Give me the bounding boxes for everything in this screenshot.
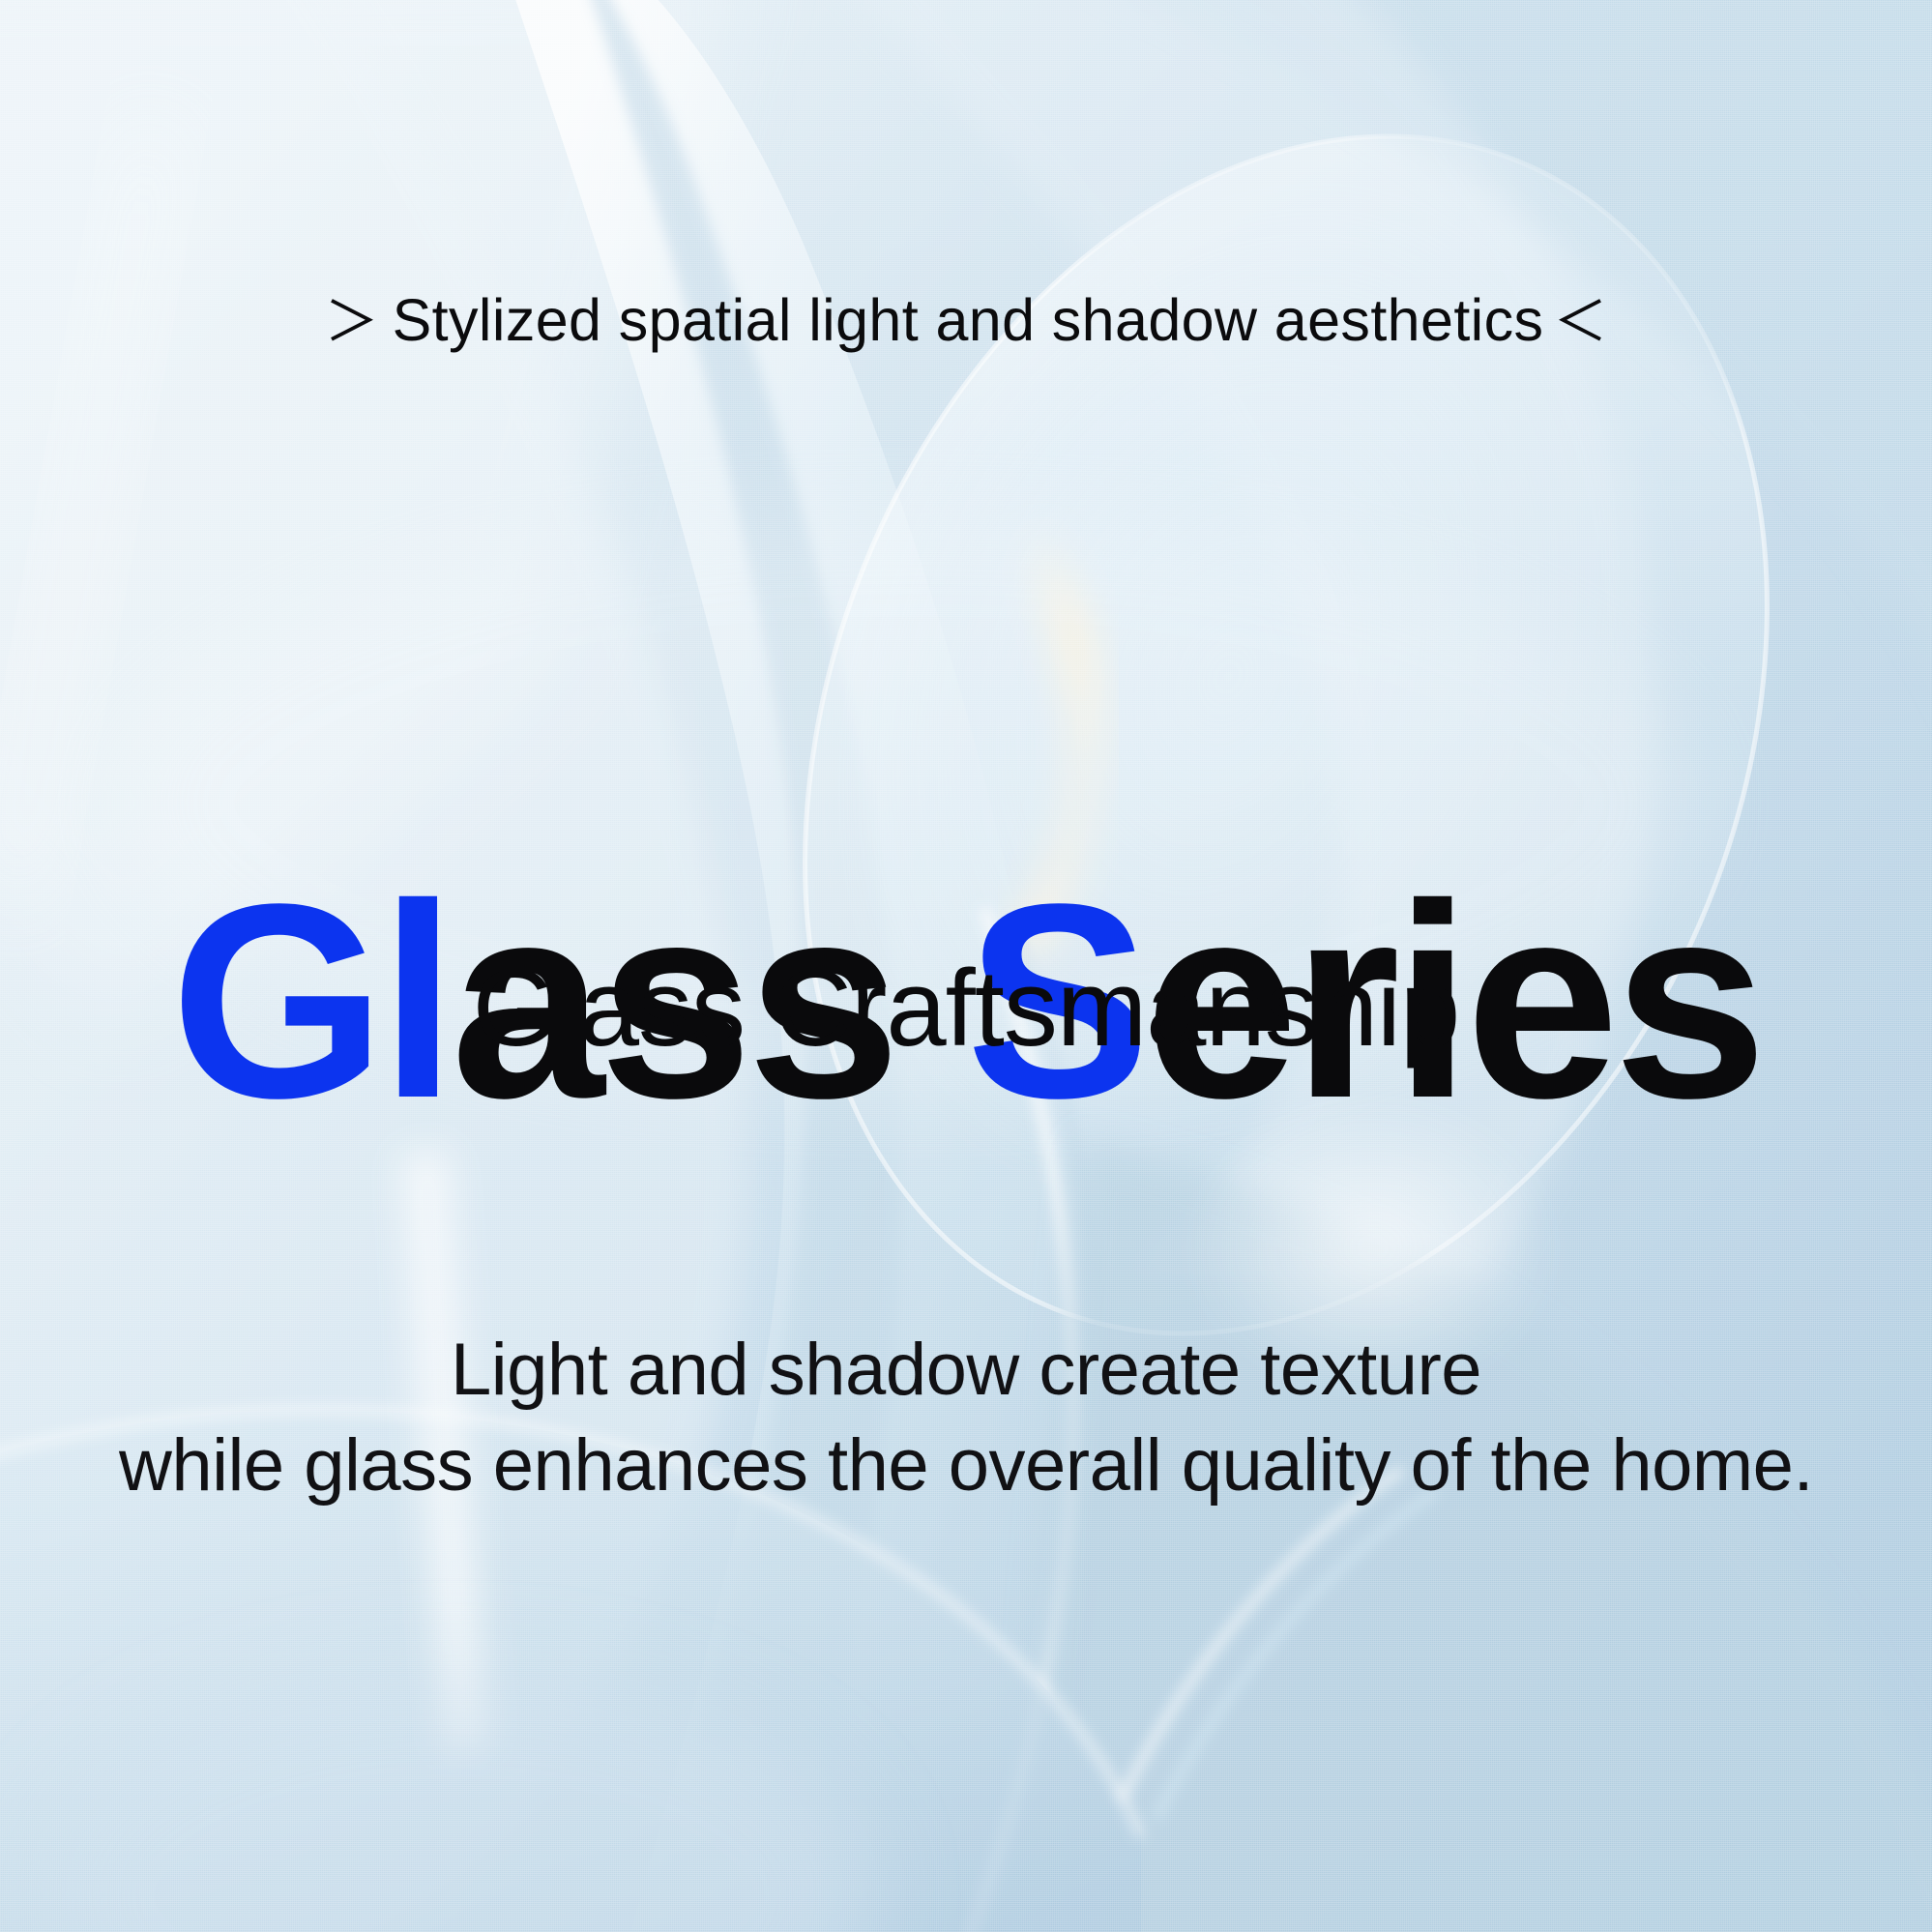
poster-canvas: ＞Stylized spatial light and shadow aesth…	[0, 0, 1932, 1932]
poster-content: ＞Stylized spatial light and shadow aesth…	[0, 0, 1932, 1932]
description-line-1: Light and shadow create texture	[0, 1323, 1932, 1419]
tagline-bracket-right: ＜	[1553, 291, 1607, 352]
description-line-2: while glass enhances the overall quality…	[0, 1419, 1932, 1514]
tagline-text: Stylized spatial light and shadow aesthe…	[393, 287, 1544, 353]
tagline-bracket-left: ＞	[325, 291, 379, 352]
description: Light and shadow create texture while gl…	[0, 1323, 1932, 1514]
tagline: ＞Stylized spatial light and shadow aesth…	[0, 278, 1932, 357]
subtitle: Glass Craftsmanship	[0, 948, 1932, 1068]
